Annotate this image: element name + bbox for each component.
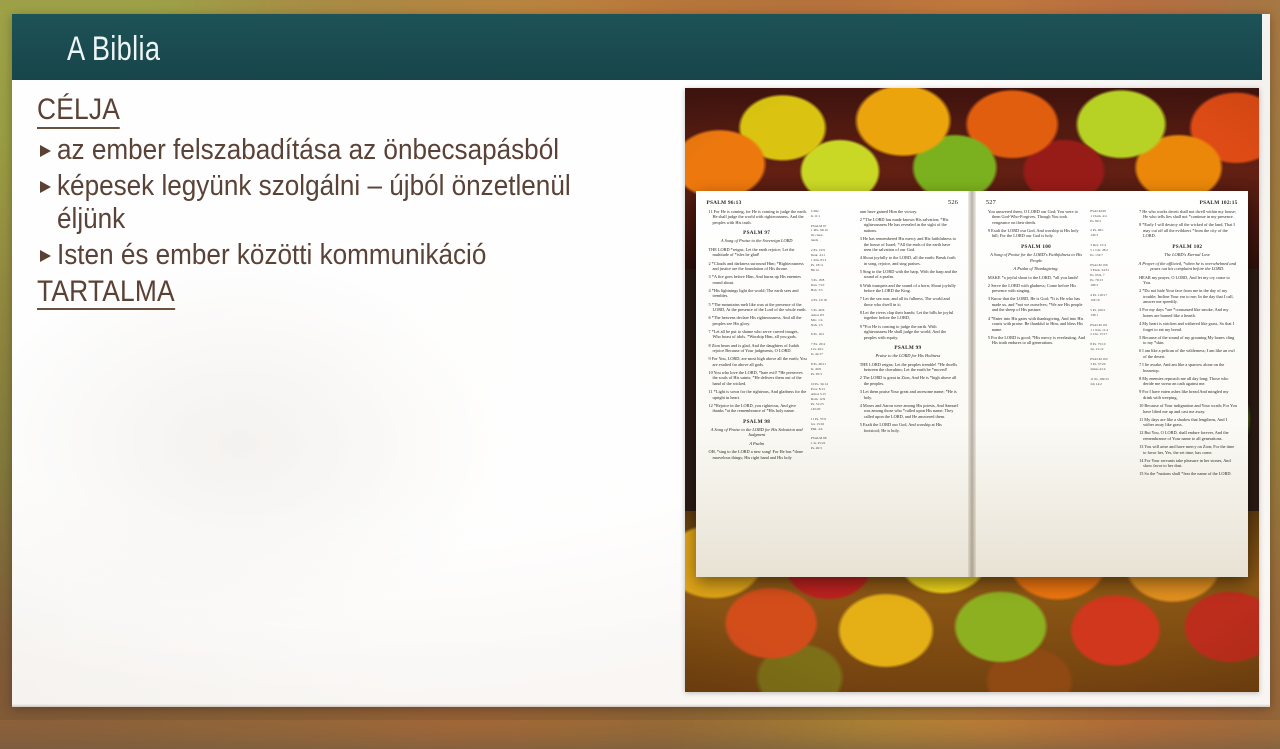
cross-ref: PSALM 971 4Ps. 96:10Or coast-lands bbox=[811, 224, 854, 244]
verse: 6 I am like a pelican of the wilderness;… bbox=[1137, 348, 1237, 359]
slide-title-bar: A Biblia bbox=[12, 14, 1262, 80]
slide-body-text: CÉLJA az ember felszabadítása az önbecsa… bbox=[37, 94, 662, 315]
verse: 12 But You, O LORD, shall endure forever… bbox=[1137, 430, 1237, 441]
cross-ref: 11 Ps. 37:6Jer. 15:16Phil. 4:4 bbox=[811, 417, 854, 432]
psalm-subtitle: The LORD's Eternal Love bbox=[1137, 252, 1237, 258]
heading-tartalma-row: TARTALMA bbox=[37, 276, 662, 311]
left-page-header: PSALM 96:13 526 bbox=[706, 199, 958, 206]
psalm-opening: MAKE *a joyful shout to the LORD, *all y… bbox=[986, 275, 1086, 281]
psalm-title: PSALM 102 bbox=[1137, 244, 1237, 250]
verse: 7 He who works deceit shall not dwell wi… bbox=[1137, 209, 1237, 220]
slide-bottom-shadow bbox=[12, 704, 1270, 707]
cross-ref: PSALM 991 1Sam. 4:4Ps. 80:1 bbox=[1090, 209, 1133, 224]
psalm-note: A Psalm bbox=[706, 441, 806, 447]
bullet-item-3: Isten és ember közötti kommunikáció bbox=[37, 239, 662, 272]
verse: 9 For I have eaten ashes like bread And … bbox=[1137, 389, 1237, 400]
verse: 2 Serve the LORD with gladness; Come bef… bbox=[986, 283, 1086, 294]
verse: 4 *Enter into His gates with thanksgivin… bbox=[986, 316, 1086, 333]
cross-ref: 6 Ps. 19:1 bbox=[811, 332, 854, 337]
verse: 4 My heart is stricken and withered like… bbox=[1137, 321, 1237, 332]
left-col-2: arm have gained Him the victory. 2 *The … bbox=[858, 209, 958, 568]
cross-ref: 8 Ps. 75:10Jer. 21:12 bbox=[1090, 342, 1133, 352]
verse: 4 Moses and Aaron were among His priests… bbox=[858, 403, 958, 420]
cross-ref: 5 Ps. 46:6Amos 9:5Mic. 1:4Nah. 1:5 bbox=[811, 308, 854, 328]
triangle-right-bullet-icon bbox=[37, 179, 57, 195]
psalm-opening: THE LORD *reigns; Let the earth rejoice;… bbox=[706, 247, 806, 258]
right-col-1: You answered them, O LORD our God; You w… bbox=[986, 209, 1086, 568]
verse: 12 *Rejoice in the LORD, you righteous, … bbox=[706, 403, 806, 414]
verse: 2 *Do not hide Your face from me in the … bbox=[1137, 288, 1237, 305]
left-page-columns: 11 For He is coming, for He is coming to… bbox=[706, 209, 958, 568]
bullet-item-1: az ember felszabadítása az önbecsapásból bbox=[37, 134, 662, 167]
psalm-note: A Psalm of Thanksgiving. bbox=[986, 266, 1086, 272]
verse: 8 Let the rivers clap their hands; Let t… bbox=[858, 310, 958, 321]
cross-ref: 5 Ps. 106:1136:1 bbox=[1090, 308, 1133, 318]
bible-right-page: 527 PSALM 102:15 You answered them, O LO… bbox=[976, 191, 1248, 578]
psalm-title: PSALM 99 bbox=[858, 345, 958, 351]
psalm-subtitle: A Song of Praise to the Sovereign LORD bbox=[706, 238, 806, 244]
right-page-number: 527 bbox=[986, 199, 996, 206]
verse: 5 Exalt the LORD our God, And worship at… bbox=[858, 422, 958, 433]
left-running-head: PSALM 96:13 bbox=[706, 200, 741, 206]
right-running-head: PSALM 102:15 bbox=[1200, 200, 1238, 206]
verse: 4 Shout joyfully to the LORD, all the ea… bbox=[858, 255, 958, 266]
bible-left-page: PSALM 96:13 526 11 For He is coming, for… bbox=[696, 191, 968, 578]
verse: 7 I lie awake, And am like a sparrow alo… bbox=[1137, 362, 1237, 373]
verse: 9 For You, LORD, are most high above all… bbox=[706, 356, 806, 367]
triangle-right-bullet-icon bbox=[37, 143, 57, 159]
cross-ref: 4 Ps. 116:17118:19 bbox=[1090, 293, 1133, 303]
psalm-title: PSALM 98 bbox=[706, 419, 806, 425]
verse: 11 *Light is sown for the righteous, And… bbox=[706, 389, 806, 400]
left-cross-reference-column: b Mic.Is 11:1 PSALM 971 4Ps. 96:10Or coa… bbox=[811, 209, 854, 568]
verse: 7 *Let all be put to shame who serve car… bbox=[706, 329, 806, 340]
open-bible: PSALM 96:13 526 11 For He is coming, for… bbox=[696, 191, 1247, 578]
verse: 5 *The mountains melt like wax at the pr… bbox=[706, 302, 806, 313]
verse: 4 *His lightnings light the world; The e… bbox=[706, 288, 806, 299]
verse: 5 Because of the sound of my groaning My… bbox=[1137, 335, 1237, 346]
verse: 3 He has remembered His mercy and His fa… bbox=[858, 236, 958, 253]
verse: 6 With trumpets and the sound of a horn;… bbox=[858, 283, 958, 294]
verse: 3 Know that the LORD, He is God; *It is … bbox=[986, 296, 1086, 313]
cross-ref: 8 Ps. 48:11Is. 40:9Ps. 95:3 bbox=[811, 362, 854, 377]
cross-ref: PSALM 981 Is. 25:22Ps. 40:3 bbox=[811, 436, 854, 451]
triangle-right-bullet-icon bbox=[37, 248, 57, 264]
psalm-opening: HEAR my prayer, O LORD, And let my cry c… bbox=[1137, 275, 1237, 286]
verse: 2 *The LORD has made known His salvation… bbox=[858, 217, 958, 234]
psalm-subtitle: A Song of Praise for the LORD's Faithful… bbox=[986, 252, 1086, 263]
cross-ref: PSALM 1011 1 Kin. 11:42 Chr. 15:17 bbox=[1090, 323, 1133, 338]
cross-ref: 2 Ps. 48:1145:3 bbox=[1090, 228, 1133, 238]
right-page-header: 527 PSALM 102:15 bbox=[986, 199, 1238, 206]
right-cross-reference-column: PSALM 991 1Sam. 4:4Ps. 80:1 2 Ps. 48:114… bbox=[1090, 209, 1133, 568]
bullet-text-2: képesek legyünk szolgálni – újból önzetl… bbox=[57, 170, 602, 236]
cross-ref: PSALM 1003 Ezek. 34:31Ps. 95:6, 7Ps. 79:… bbox=[1090, 263, 1133, 288]
cross-ref: 2 Ex. 19:9Deut. 4:111 Kin. 8:12Ps. 18:11… bbox=[811, 248, 854, 273]
verse: 7 Let the sea roar, and all its fullness… bbox=[858, 296, 958, 307]
psalm-opening: THE LORD reigns; Let the peoples tremble… bbox=[858, 362, 958, 373]
psalm-opening: OH, *sing to the LORD a new song! For He… bbox=[706, 449, 806, 460]
psalm-subtitle: Praise to the LORD for His Holiness bbox=[858, 353, 958, 359]
verse: 15 So the *nations shall *fear the name … bbox=[1137, 471, 1237, 477]
heading-celja-row: CÉLJA bbox=[37, 94, 662, 129]
heading-tartalma: TARTALMA bbox=[37, 276, 175, 311]
verse: 14 For Your servants take pleasure in he… bbox=[1137, 458, 1237, 469]
psalm-subtitle: A Song of Praise to the LORD for His Sal… bbox=[706, 427, 806, 438]
verse: 10 You who love the LORD, *hate evil! *H… bbox=[706, 370, 806, 387]
cross-ref: 4 Ex. 19:18 bbox=[811, 298, 854, 303]
left-page-number: 526 bbox=[948, 199, 958, 206]
book-gutter bbox=[968, 191, 976, 578]
cross-ref: 10 Ps. 34:14Prov. 8:13Amos 5:15Rom. 12:9… bbox=[811, 382, 854, 412]
cross-ref: 7 Ex. 20:4Lev. 26:1Is. 42:17 bbox=[811, 342, 854, 357]
verse: 10 Because of Your indignation and Your … bbox=[1137, 403, 1237, 414]
verse: 8 *Early I will destroy all the wicked o… bbox=[1137, 222, 1237, 239]
bullet-text-3: Isten és ember közötti kommunikáció bbox=[57, 239, 602, 272]
cross-ref: 3 Ps. 18:8Dan. 7:10Hab. 3:5 bbox=[811, 278, 854, 293]
verse: 2 *Clouds and darkness surround Him; *Ri… bbox=[706, 261, 806, 272]
cross-ref: 11 Ps. 109:23Job 14:2 bbox=[1090, 377, 1133, 387]
verse: arm have gained Him the victory. bbox=[858, 209, 958, 215]
heading-celja: CÉLJA bbox=[37, 94, 120, 129]
verse: 5 Sing to the LORD with the harp, With t… bbox=[858, 269, 958, 280]
psalm-note: A Prayer of the afflicted, *when he is o… bbox=[1137, 261, 1237, 272]
psalm-title: PSALM 97 bbox=[706, 230, 806, 236]
verse: 3 For my days *are *consumed like smoke,… bbox=[1137, 307, 1237, 318]
verse: 8 My enemies reproach me all day long; T… bbox=[1137, 376, 1237, 387]
slide-canvas: A Biblia CÉLJA az ember felszabadítása a… bbox=[12, 14, 1270, 707]
verse: 9 *For He is coming to judge the earth. … bbox=[858, 324, 958, 341]
cross-ref: PSALM 1023 Ps. 37:20James 4:14 bbox=[1090, 357, 1133, 372]
bullet-item-2: képesek legyünk szolgálni – újból önzetl… bbox=[37, 170, 662, 236]
bullet-text-1: az ember felszabadítása az önbecsapásból bbox=[57, 134, 602, 167]
verse: 11 My days are like a shadow that length… bbox=[1137, 417, 1237, 428]
verse: 2 The LORD is great in Zion, And He is *… bbox=[858, 375, 958, 386]
right-col-2: 7 He who works deceit shall not dwell wi… bbox=[1137, 209, 1237, 568]
verse: 9 Exalt the LORD our God, And worship at… bbox=[986, 228, 1086, 239]
right-page-columns: You answered them, O LORD our God; You w… bbox=[986, 209, 1238, 568]
verse: 3 *A fire goes before Him, And burns up … bbox=[706, 274, 806, 285]
verse: 5 For the LORD is good; *His mercy is ev… bbox=[986, 335, 1086, 346]
cross-ref: b Mic.Is 11:1 bbox=[811, 209, 854, 219]
left-col-1: 11 For He is coming, for He is coming to… bbox=[706, 209, 806, 568]
cross-ref: 3 Rev. 15:45 1 Chr. 28:2Ps. 132:7 bbox=[1090, 243, 1133, 258]
slide-title: A Biblia bbox=[67, 30, 160, 69]
psalm-title: PSALM 100 bbox=[986, 244, 1086, 250]
verse: You answered them, O LORD our God; You w… bbox=[986, 209, 1086, 226]
verse: 8 Zion hears and is glad, And the daught… bbox=[706, 343, 806, 354]
verse: 3 Let them praise Your great and awesome… bbox=[858, 389, 958, 400]
bible-autumn-leaves-photo: PSALM 96:13 526 11 For He is coming, for… bbox=[685, 88, 1259, 692]
verse: 11 For He is coming, for He is coming to… bbox=[706, 209, 806, 226]
verse: 6 *The heavens declare His righteousness… bbox=[706, 315, 806, 326]
verse: 13 You will arise and have mercy on Zion… bbox=[1137, 444, 1237, 455]
